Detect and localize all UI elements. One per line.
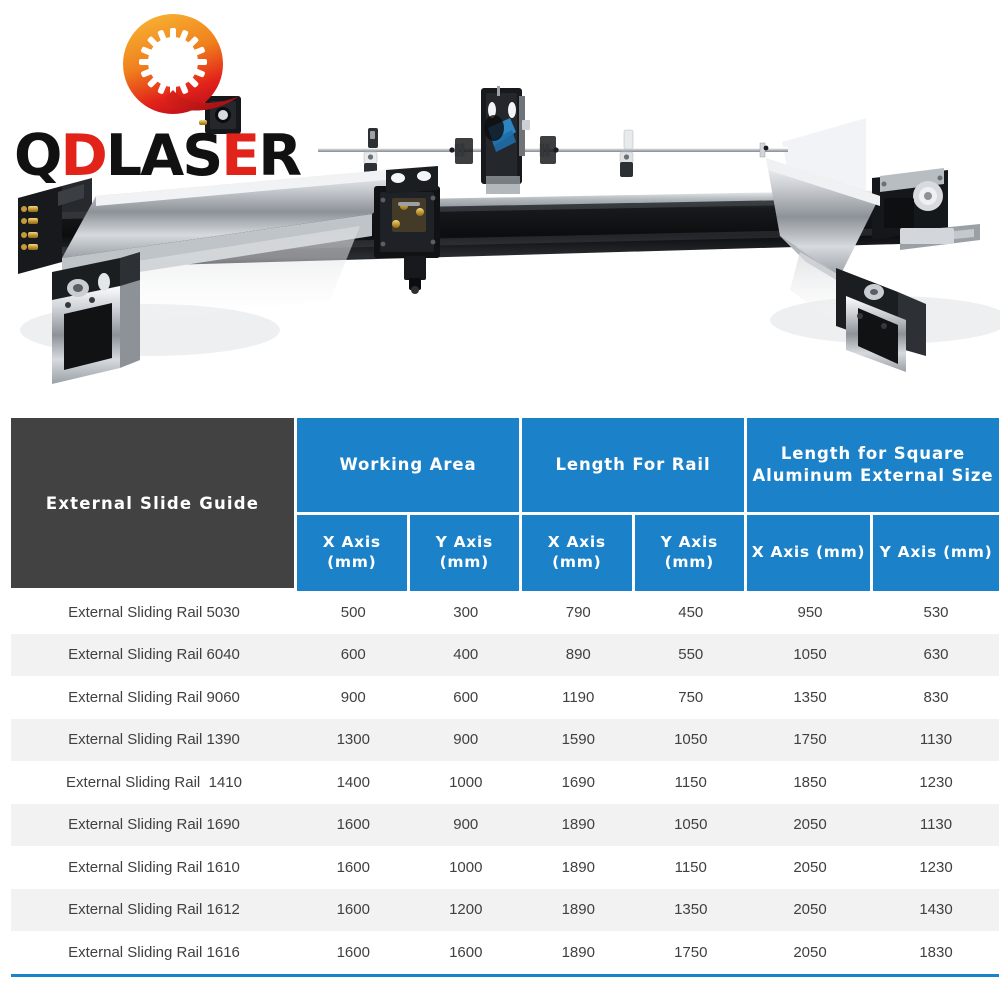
table-row: External Sliding Rail 5030 500 300 790 4… — [11, 591, 999, 634]
cell-rail-y: 550 — [635, 634, 748, 677]
cell-rail-x: 1890 — [522, 804, 635, 847]
cell-working-area-y: 1000 — [410, 761, 523, 804]
cell-aluminum-x: 2050 — [747, 846, 873, 889]
table-row: External Sliding Rail 1410 1400 1000 169… — [11, 761, 999, 804]
cell-rail-x: 1590 — [522, 719, 635, 762]
header-external-slide-guide: External Slide Guide — [11, 418, 297, 591]
cell-working-area-x: 500 — [297, 591, 410, 634]
subheader-rail-y: Y Axis (mm) — [635, 515, 748, 591]
header-working-area: Working Area — [297, 418, 522, 515]
logo-letter-e: E — [221, 123, 258, 189]
table-row: External Sliding Rail 1390 1300 900 1590… — [11, 719, 999, 762]
cell-aluminum-x: 950 — [747, 591, 873, 634]
cell-rail-y: 1150 — [635, 846, 748, 889]
cell-rail-y: 1750 — [635, 931, 748, 977]
cell-rail-x: 1690 — [522, 761, 635, 804]
cell-working-area-x: 1600 — [297, 889, 410, 932]
cell-rail-x: 790 — [522, 591, 635, 634]
cell-working-area-x: 600 — [297, 634, 410, 677]
cell-aluminum-y: 1130 — [873, 719, 999, 762]
cell-rail-y: 1050 — [635, 804, 748, 847]
header-length-square-aluminum: Length for Square Aluminum External Size — [747, 418, 999, 515]
product-hero: QDLASER — [0, 0, 1000, 408]
cell-working-area-x: 1600 — [297, 846, 410, 889]
cell-working-area-x: 1600 — [297, 931, 410, 977]
cell-working-area-y: 600 — [410, 676, 523, 719]
brand-wordmark: QDLASER — [14, 128, 300, 185]
cell-aluminum-y: 630 — [873, 634, 999, 677]
cell-aluminum-y: 1430 — [873, 889, 999, 932]
subheader-aluminum-y: Y Axis (mm) — [873, 515, 999, 591]
cell-working-area-x: 1300 — [297, 719, 410, 762]
subheader-working-area-y: Y Axis (mm) — [410, 515, 523, 591]
cell-model-name: External Sliding Rail 1616 — [11, 931, 297, 977]
cell-aluminum-y: 830 — [873, 676, 999, 719]
cell-aluminum-y: 1230 — [873, 846, 999, 889]
table-head: External Slide Guide Working Area Length… — [11, 418, 999, 591]
cell-model-name: External Sliding Rail 1690 — [11, 804, 297, 847]
cell-model-name: External Sliding Rail 1610 — [11, 846, 297, 889]
cell-aluminum-y: 1130 — [873, 804, 999, 847]
cell-rail-y: 750 — [635, 676, 748, 719]
cell-model-name: External Sliding Rail 5030 — [11, 591, 297, 634]
cell-rail-x: 1890 — [522, 846, 635, 889]
cell-rail-y: 1150 — [635, 761, 748, 804]
cell-rail-x: 890 — [522, 634, 635, 677]
sun-logo-icon — [113, 12, 243, 130]
cell-rail-y: 1050 — [635, 719, 748, 762]
cell-working-area-y: 400 — [410, 634, 523, 677]
table-row: External Sliding Rail 1690 1600 900 1890… — [11, 804, 999, 847]
cell-aluminum-x: 2050 — [747, 931, 873, 977]
cell-aluminum-x: 2050 — [747, 889, 873, 932]
header-length-for-rail: Length For Rail — [522, 418, 747, 515]
subheader-aluminum-x: X Axis (mm) — [747, 515, 873, 591]
table-group-header-row: External Slide Guide Working Area Length… — [11, 418, 999, 515]
table-row: External Sliding Rail 1616 1600 1600 189… — [11, 931, 999, 977]
cell-model-name: External Sliding Rail 1390 — [11, 719, 297, 762]
cell-working-area-y: 1000 — [410, 846, 523, 889]
cell-working-area-y: 900 — [410, 719, 523, 762]
cell-aluminum-x: 1850 — [747, 761, 873, 804]
cell-rail-x: 1190 — [522, 676, 635, 719]
cell-aluminum-x: 1350 — [747, 676, 873, 719]
table-row: External Sliding Rail 1612 1600 1200 189… — [11, 889, 999, 932]
cell-aluminum-y: 1830 — [873, 931, 999, 977]
cell-aluminum-x: 1050 — [747, 634, 873, 677]
table-row: External Sliding Rail 6040 600 400 890 5… — [11, 634, 999, 677]
cell-model-name: External Sliding Rail 9060 — [11, 676, 297, 719]
table-row: External Sliding Rail 1610 1600 1000 189… — [11, 846, 999, 889]
specification-table: External Slide Guide Working Area Length… — [11, 418, 999, 977]
cell-rail-x: 1890 — [522, 931, 635, 977]
logo-letters-las: LAS — [106, 123, 222, 189]
cell-aluminum-y: 530 — [873, 591, 999, 634]
cell-working-area-x: 1600 — [297, 804, 410, 847]
table-row: External Sliding Rail 9060 900 600 1190 … — [11, 676, 999, 719]
cell-working-area-y: 300 — [410, 591, 523, 634]
cell-rail-y: 450 — [635, 591, 748, 634]
cell-working-area-y: 1600 — [410, 931, 523, 977]
logo-letter-r: R — [258, 123, 300, 189]
logo-letter-q: Q — [14, 123, 60, 189]
cell-rail-x: 1890 — [522, 889, 635, 932]
cell-rail-y: 1350 — [635, 889, 748, 932]
cell-working-area-x: 900 — [297, 676, 410, 719]
cell-aluminum-y: 1230 — [873, 761, 999, 804]
cell-aluminum-x: 1750 — [747, 719, 873, 762]
cell-working-area-x: 1400 — [297, 761, 410, 804]
cell-working-area-y: 900 — [410, 804, 523, 847]
cell-model-name: External Sliding Rail 6040 — [11, 634, 297, 677]
cell-working-area-y: 1200 — [410, 889, 523, 932]
brand-logo: QDLASER — [8, 8, 328, 198]
cell-model-name: External Sliding Rail 1612 — [11, 889, 297, 932]
subheader-working-area-x: X Axis (mm) — [297, 515, 410, 591]
cell-aluminum-x: 2050 — [747, 804, 873, 847]
table-body: External Sliding Rail 5030 500 300 790 4… — [11, 591, 999, 977]
cell-model-name: External Sliding Rail 1410 — [11, 761, 297, 804]
logo-letter-d: D — [60, 123, 105, 189]
subheader-rail-x: X Axis (mm) — [522, 515, 635, 591]
